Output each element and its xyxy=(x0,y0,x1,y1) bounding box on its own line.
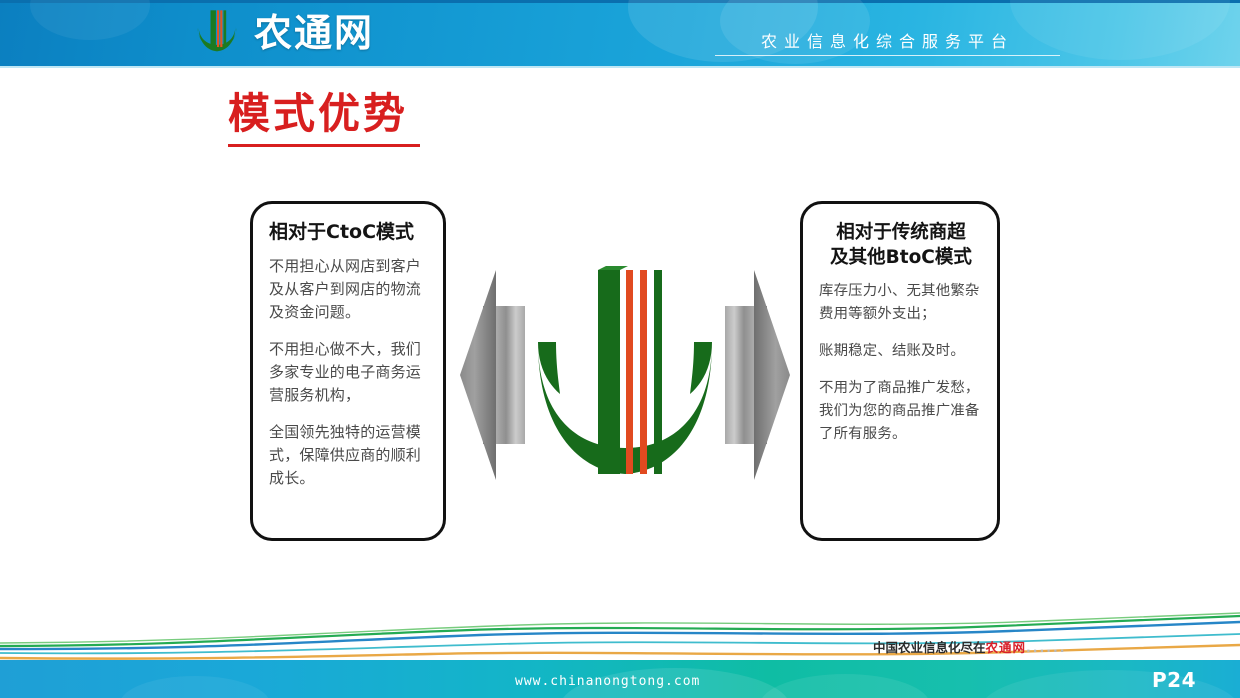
card-btoc: 相对于传统商超 及其他BtoC模式 库存压力小、无其他繁杂费用等额外支出； 账期… xyxy=(800,201,1000,541)
footer-cloud-decoration xyxy=(980,670,1240,698)
header-bottom-rule xyxy=(0,66,1240,68)
card-btoc-paragraph: 库存压力小、无其他繁杂费用等额外支出； xyxy=(819,280,983,326)
header-tagline: 农业信息化综合服务平台 xyxy=(715,28,1060,52)
nongtongwang-logo-icon xyxy=(520,266,730,484)
footer-website-url[interactable]: www.chinanongtong.com xyxy=(515,674,700,689)
footer-slogan: 中国农业信息化尽在农通网...... xyxy=(873,637,1067,656)
footer-page-number: P24 xyxy=(1152,668,1196,692)
page-header: 农通网 农业信息化综合服务平台 xyxy=(0,0,1240,68)
card-btoc-heading-line1: 相对于传统商超 xyxy=(819,220,983,245)
card-ctoc-heading: 相对于CtoC模式 xyxy=(269,220,429,245)
card-ctoc: 相对于CtoC模式 不用担心从网店到客户及从客户到网店的物流及资金问题。 不用担… xyxy=(250,201,446,541)
footer-cloud-decoration xyxy=(120,676,270,698)
right-arrow-icon xyxy=(700,262,795,488)
footer-cloud-decoration xyxy=(760,674,930,698)
page-title: 模式优势 xyxy=(228,88,420,140)
footer-slogan-brand: 农通网 xyxy=(986,640,1027,655)
card-ctoc-paragraph: 不用担心做不大，我们多家专业的电子商务运营服务机构， xyxy=(269,338,429,407)
card-btoc-paragraph: 账期稳定、结账及时。 xyxy=(819,340,983,363)
brand-lockup: 农通网 xyxy=(190,6,374,60)
footer-slogan-prefix: 中国农业信息化尽在 xyxy=(873,640,986,655)
header-cloud-decoration xyxy=(30,0,150,40)
brand-name: 农通网 xyxy=(254,6,374,60)
brand-logo-icon xyxy=(190,6,244,60)
footer-slogan-dots: ...... xyxy=(1026,640,1067,655)
header-tagline-block: 农业信息化综合服务平台 xyxy=(715,28,1060,56)
card-btoc-heading-line2: 及其他BtoC模式 xyxy=(819,245,983,270)
slide-canvas: 农通网 农业信息化综合服务平台 模式优势 相对于CtoC模式 不用担心从网店到客… xyxy=(0,0,1240,698)
header-tagline-rule xyxy=(715,55,1060,56)
center-graphic xyxy=(455,262,795,488)
page-title-block: 模式优势 xyxy=(228,88,420,147)
card-ctoc-paragraph: 不用担心从网店到客户及从客户到网店的物流及资金问题。 xyxy=(269,255,429,324)
page-title-underline xyxy=(228,144,420,147)
card-ctoc-paragraph: 全国领先独特的运营模式，保障供应商的顺利成长。 xyxy=(269,421,429,490)
card-btoc-paragraph: 不用为了商品推广发愁，我们为您的商品推广准备了所有服务。 xyxy=(819,377,983,446)
footer-bar: www.chinanongtong.com P24 xyxy=(0,660,1240,698)
